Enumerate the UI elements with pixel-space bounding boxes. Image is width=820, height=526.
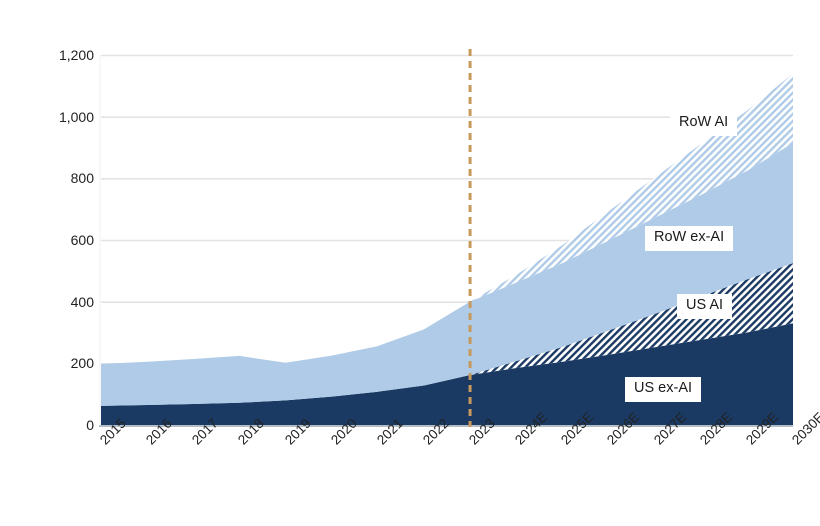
series-label-us-ai: US AI [677, 294, 732, 319]
series-label-row-ai: RoW AI [670, 111, 737, 136]
chart-container: Data center power demand, TWh 0200400600… [0, 0, 820, 526]
series-label-row-ex-ai: RoW ex-AI [645, 226, 733, 251]
series-label-us-ex-ai: US ex-AI [625, 377, 701, 402]
plot-area [0, 0, 820, 526]
